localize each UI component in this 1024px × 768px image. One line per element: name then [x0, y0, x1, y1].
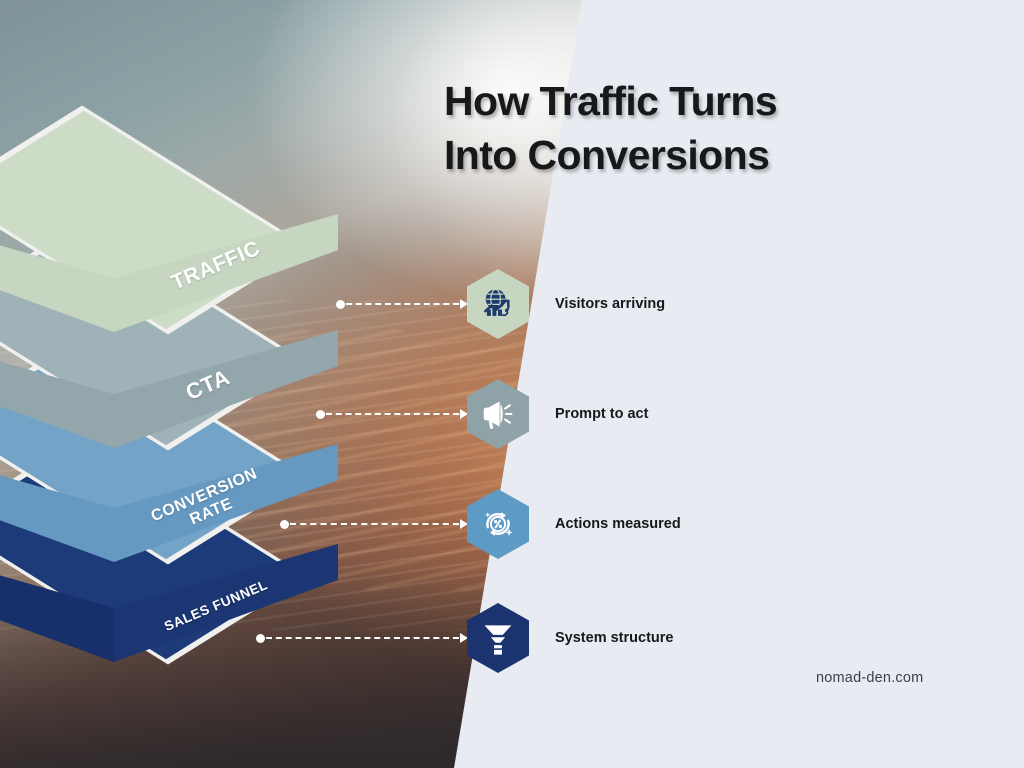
connector-dash	[326, 413, 459, 415]
step-label-system-structure: System structure	[555, 630, 673, 646]
connector-dot	[256, 634, 265, 643]
isometric-funnel-stack: SALES FUNNEL CONVERSION RATE CTA TRAFFIC	[0, 96, 360, 756]
globe-growth-icon	[467, 269, 529, 339]
step-row-visitors-arriving[interactable]: Visitors arriving	[467, 269, 665, 339]
connector-dot	[336, 300, 345, 309]
megaphone-icon	[467, 379, 529, 449]
connector-dot	[280, 520, 289, 529]
conversion-rate-icon	[467, 489, 529, 559]
step-label-actions-measured: Actions measured	[555, 516, 681, 532]
connector-conversion-rate	[280, 517, 468, 531]
step-row-system-structure[interactable]: System structure	[467, 603, 673, 673]
step-row-prompt-to-act[interactable]: Prompt to act	[467, 379, 648, 449]
step-label-visitors-arriving: Visitors arriving	[555, 296, 665, 312]
page-title-line-2: Into Conversions	[444, 128, 964, 182]
watermark: nomad-den.com	[816, 670, 923, 686]
page-title: How Traffic Turns Into Conversions	[444, 74, 964, 182]
infographic-canvas: How Traffic Turns Into Conversions SALES…	[0, 0, 1024, 768]
funnel-layer-traffic[interactable]: TRAFFIC	[0, 96, 360, 416]
connector-cta	[316, 407, 468, 421]
connector-traffic	[336, 297, 468, 311]
page-title-line-1: How Traffic Turns	[444, 78, 777, 124]
connector-dash	[290, 523, 459, 525]
connector-dot	[316, 410, 325, 419]
connector-sales-funnel	[256, 631, 468, 645]
step-row-actions-measured[interactable]: Actions measured	[467, 489, 681, 559]
connector-dash	[266, 637, 459, 639]
step-label-prompt-to-act: Prompt to act	[555, 406, 648, 422]
funnel-icon	[467, 603, 529, 673]
connector-dash	[346, 303, 459, 305]
